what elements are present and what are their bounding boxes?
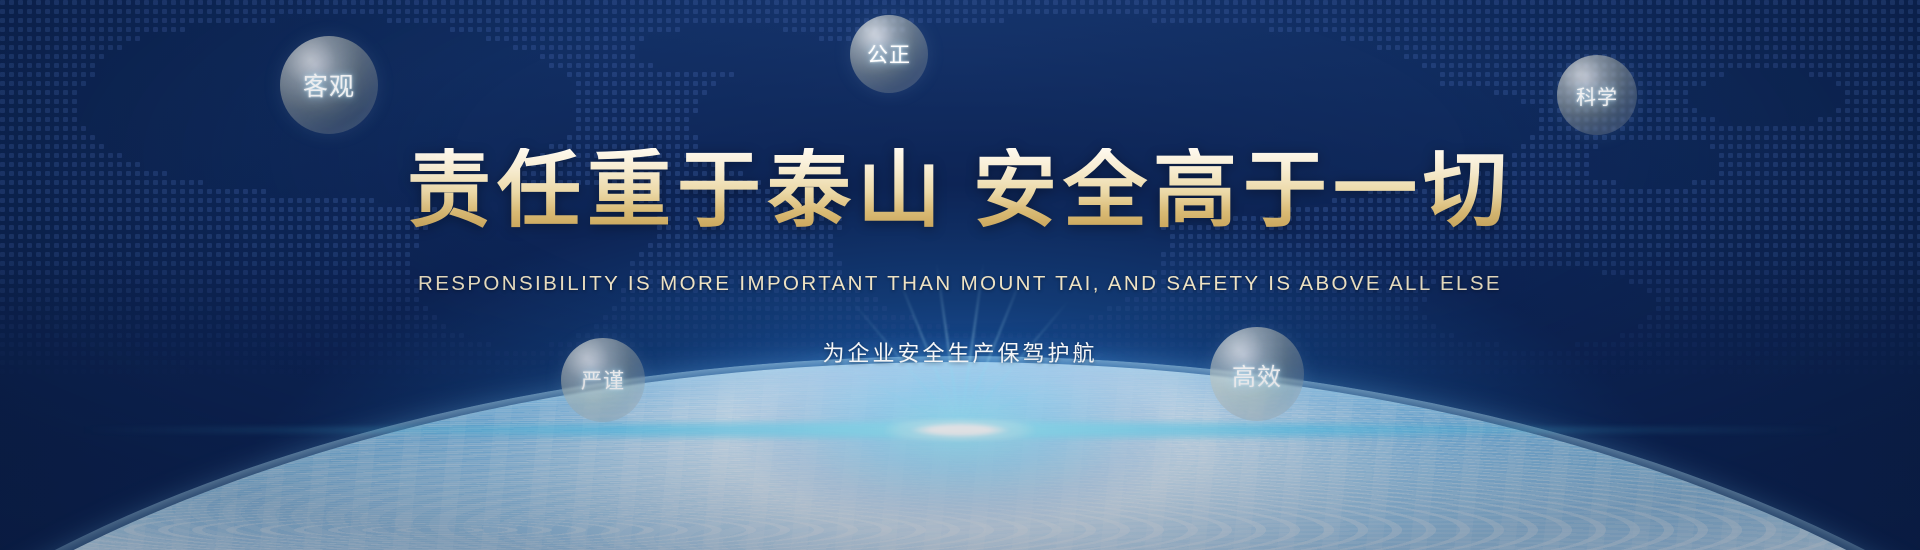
flare-core — [885, 419, 1035, 441]
virtue-orb-label: 科学 — [1576, 81, 1618, 110]
title-line-second: 安全高于一切 — [973, 140, 1513, 239]
virtue-orb-label: 严谨 — [581, 365, 625, 395]
virtue-orb-label: 公正 — [867, 39, 911, 69]
virtue-orb-keguan: 客观 — [280, 36, 378, 134]
safety-banner: 客观公正科学严谨高效 责任重于泰山安全高于一切 RESPONSIBILITY I… — [0, 0, 1920, 550]
title-line-first: 责任重于泰山 — [407, 140, 947, 239]
virtue-orb-kexue: 科学 — [1557, 55, 1637, 135]
virtue-orb-gongzheng: 公正 — [850, 15, 928, 93]
virtue-orb-label: 客观 — [303, 67, 355, 103]
page-title: 责任重于泰山安全高于一切 — [0, 148, 1920, 232]
subtitle-chinese: 为企业安全生产保驾护航 — [0, 336, 1920, 368]
subtitle-english: RESPONSIBILITY IS MORE IMPORTANT THAN MO… — [0, 272, 1920, 296]
